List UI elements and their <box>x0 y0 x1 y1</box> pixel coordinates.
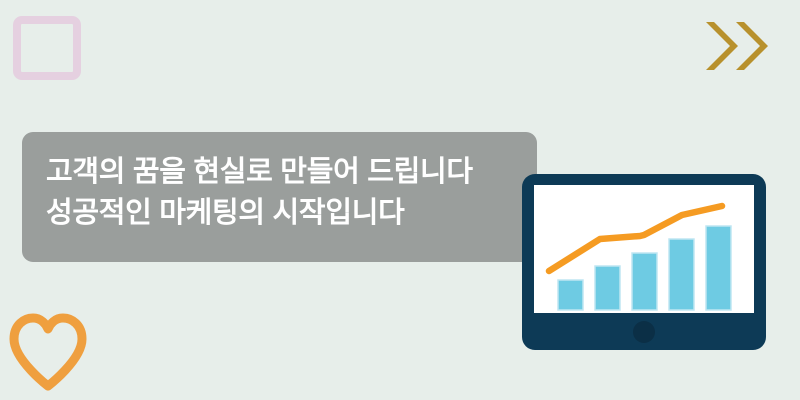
tablet-illustration <box>522 174 766 350</box>
caption-line-2: 성공적인 마케팅의 시작입니다 <box>46 193 526 234</box>
caption-text: 고객의 꿈을 현실로 만들어 드립니다 성공적인 마케팅의 시작입니다 <box>46 152 526 234</box>
square-outline-icon <box>13 16 81 80</box>
caption-line-1: 고객의 꿈을 현실로 만들어 드립니다 <box>46 152 526 193</box>
tablet-home-button <box>633 321 655 343</box>
heart-outline-icon <box>4 310 92 394</box>
marketing-banner: 고객의 꿈을 현실로 만들어 드립니다 성공적인 마케팅의 시작입니다 <box>0 0 800 400</box>
double-chevron-right-icon <box>704 18 770 74</box>
